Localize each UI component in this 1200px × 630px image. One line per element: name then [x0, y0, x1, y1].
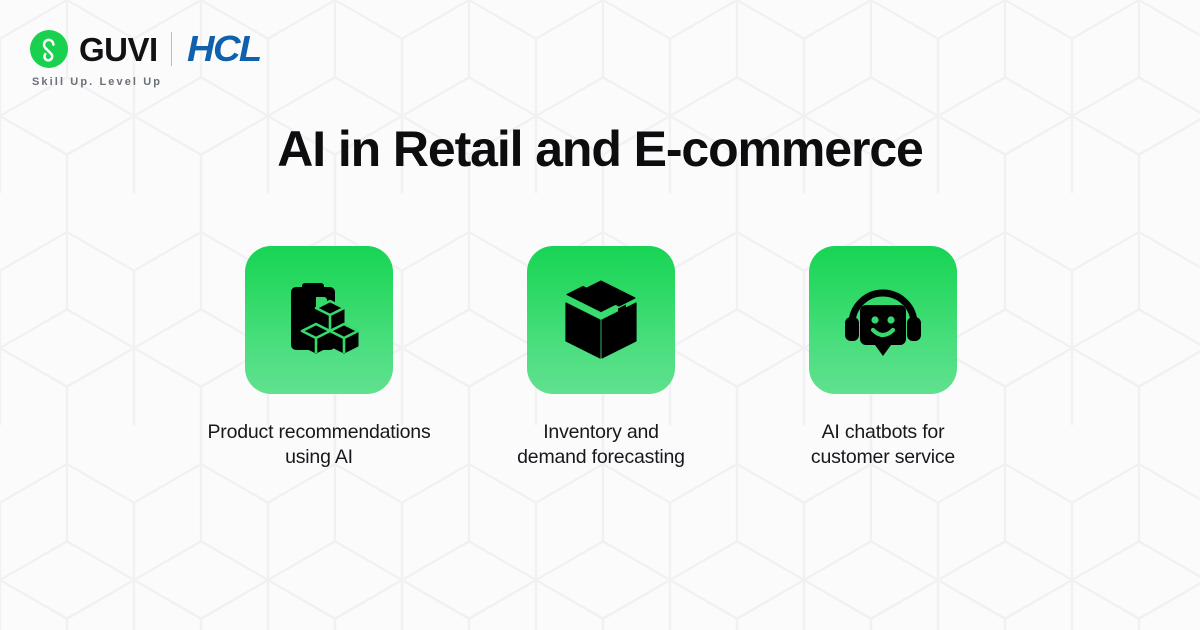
- feature-caption: AI chatbots for customer service: [811, 420, 955, 470]
- clipboard-cubes-icon: [276, 277, 362, 363]
- logo-row: GUVI HCL: [30, 28, 256, 70]
- guvi-logo-icon: [30, 30, 68, 68]
- feature-caption: Inventory and demand forecasting: [517, 420, 685, 470]
- hcl-wordmark: HCL: [187, 31, 261, 67]
- guvi-tagline: Skill Up. Level Up: [32, 77, 162, 88]
- feature-icon-tile: [245, 246, 393, 394]
- package-box-icon: [558, 277, 644, 363]
- logo-divider: [171, 32, 172, 66]
- guvi-wordmark: GUVI: [79, 33, 158, 66]
- brand-logo-bar: GUVI HCL Skill Up. Level Up: [30, 28, 256, 88]
- chatbot-headset-icon: [840, 277, 926, 363]
- feature-icon-tile: [809, 246, 957, 394]
- feature-card-ai-chatbots: AI chatbots for customer service: [747, 246, 1019, 470]
- slide-canvas: GUVI HCL Skill Up. Level Up AI in Retail…: [0, 0, 1200, 630]
- feature-card-inventory-forecasting: Inventory and demand forecasting: [465, 246, 737, 470]
- page-title: AI in Retail and E-commerce: [0, 122, 1200, 177]
- feature-caption: Product recommendations using AI: [207, 420, 430, 470]
- feature-icon-tile: [527, 246, 675, 394]
- feature-card-row: Product recommendations using AI: [183, 246, 1019, 470]
- feature-card-product-recommendations: Product recommendations using AI: [183, 246, 455, 470]
